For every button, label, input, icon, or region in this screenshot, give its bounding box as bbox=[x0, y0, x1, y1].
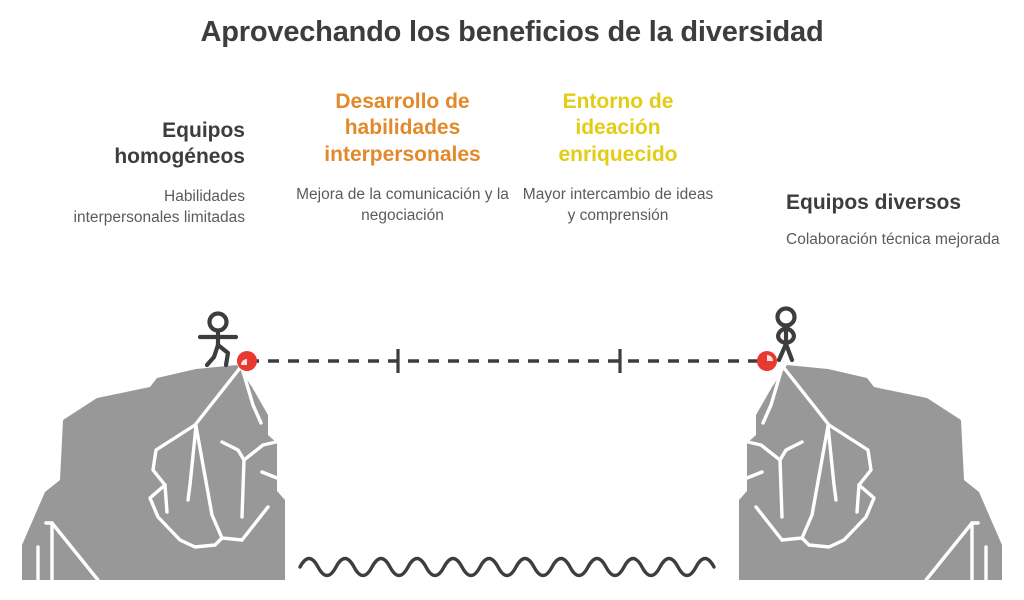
stick-figure-standing bbox=[778, 309, 795, 361]
column-body-homogeneous: Habilidades interpersonales limitadas bbox=[55, 187, 245, 229]
column-heading-diverse: Equipos diversos bbox=[786, 190, 1001, 216]
right-mountain bbox=[739, 365, 1002, 580]
column-ideation-environment: Entorno de ideación enriquecido Mayor in… bbox=[518, 89, 718, 227]
column-body-interpersonal: Mejora de la comunicación y la negociaci… bbox=[295, 185, 510, 227]
left-mountain bbox=[22, 365, 285, 580]
column-heading-homogeneous: Equipos homogéneos bbox=[55, 118, 245, 171]
column-interpersonal-skills: Desarrollo de habilidades interpersonale… bbox=[295, 89, 510, 227]
water-wave-path bbox=[300, 559, 714, 576]
stick-figure-walking bbox=[200, 314, 236, 366]
wavy-water-line bbox=[300, 559, 714, 576]
dashed-rope-bridge bbox=[248, 349, 766, 373]
rope-anchor-left bbox=[237, 351, 257, 371]
infographic-canvas: Aprovechando los beneficios de la divers… bbox=[0, 0, 1024, 600]
column-homogeneous-teams: Equipos homogéneos Habilidades interpers… bbox=[55, 118, 245, 228]
column-body-ideation: Mayor intercambio de ideas y comprensión bbox=[518, 185, 718, 227]
illustration-scene bbox=[0, 295, 1024, 600]
page-title: Aprovechando los beneficios de la divers… bbox=[0, 16, 1024, 49]
rope-anchor-right bbox=[757, 351, 777, 371]
scene-svg bbox=[0, 295, 1024, 600]
column-diverse-teams: Equipos diversos Colaboración técnica me… bbox=[786, 190, 1001, 251]
column-body-diverse: Colaboración técnica mejorada bbox=[786, 230, 1001, 251]
column-heading-interpersonal: Desarrollo de habilidades interpersonale… bbox=[295, 89, 510, 168]
column-heading-ideation: Entorno de ideación enriquecido bbox=[518, 89, 718, 168]
